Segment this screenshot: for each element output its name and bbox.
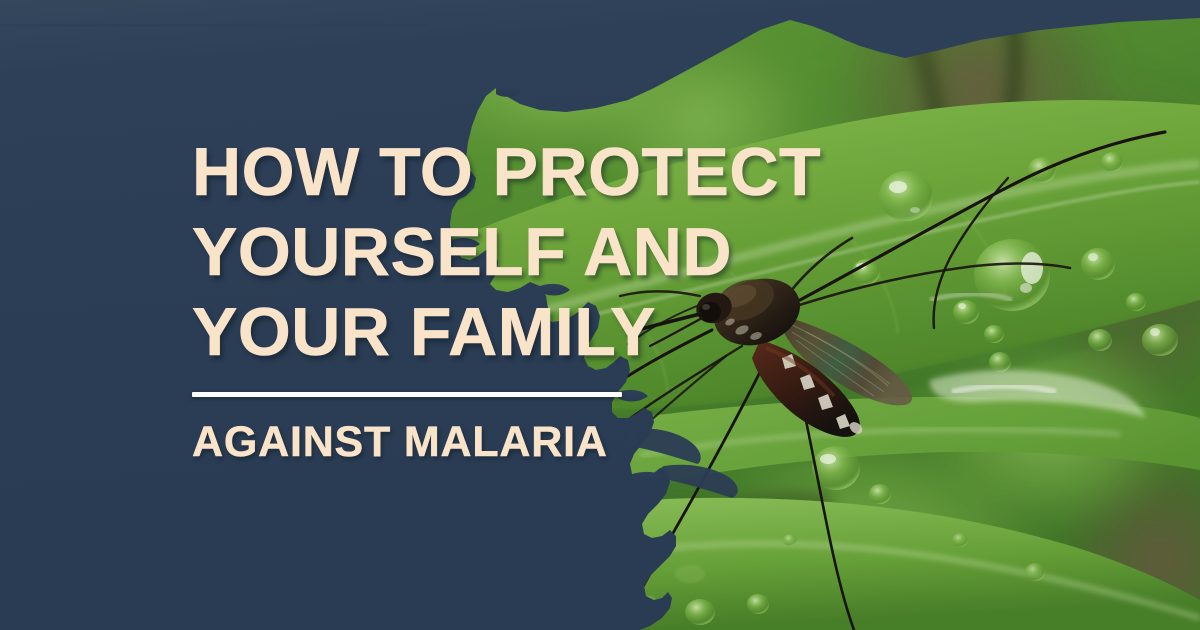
malaria-awareness-banner: HOW TO PROTECT YOURSELF AND YOUR FAMILY … (0, 0, 1200, 630)
subheadline: AGAINST MALARIA (192, 418, 952, 466)
headline-line-2: YOURSELF AND (192, 212, 952, 292)
headline-line-1: HOW TO PROTECT (192, 132, 952, 212)
headline-line-3: YOUR FAMILY (192, 292, 952, 372)
text-block: HOW TO PROTECT YOURSELF AND YOUR FAMILY … (192, 132, 952, 466)
divider-rule (192, 392, 622, 397)
